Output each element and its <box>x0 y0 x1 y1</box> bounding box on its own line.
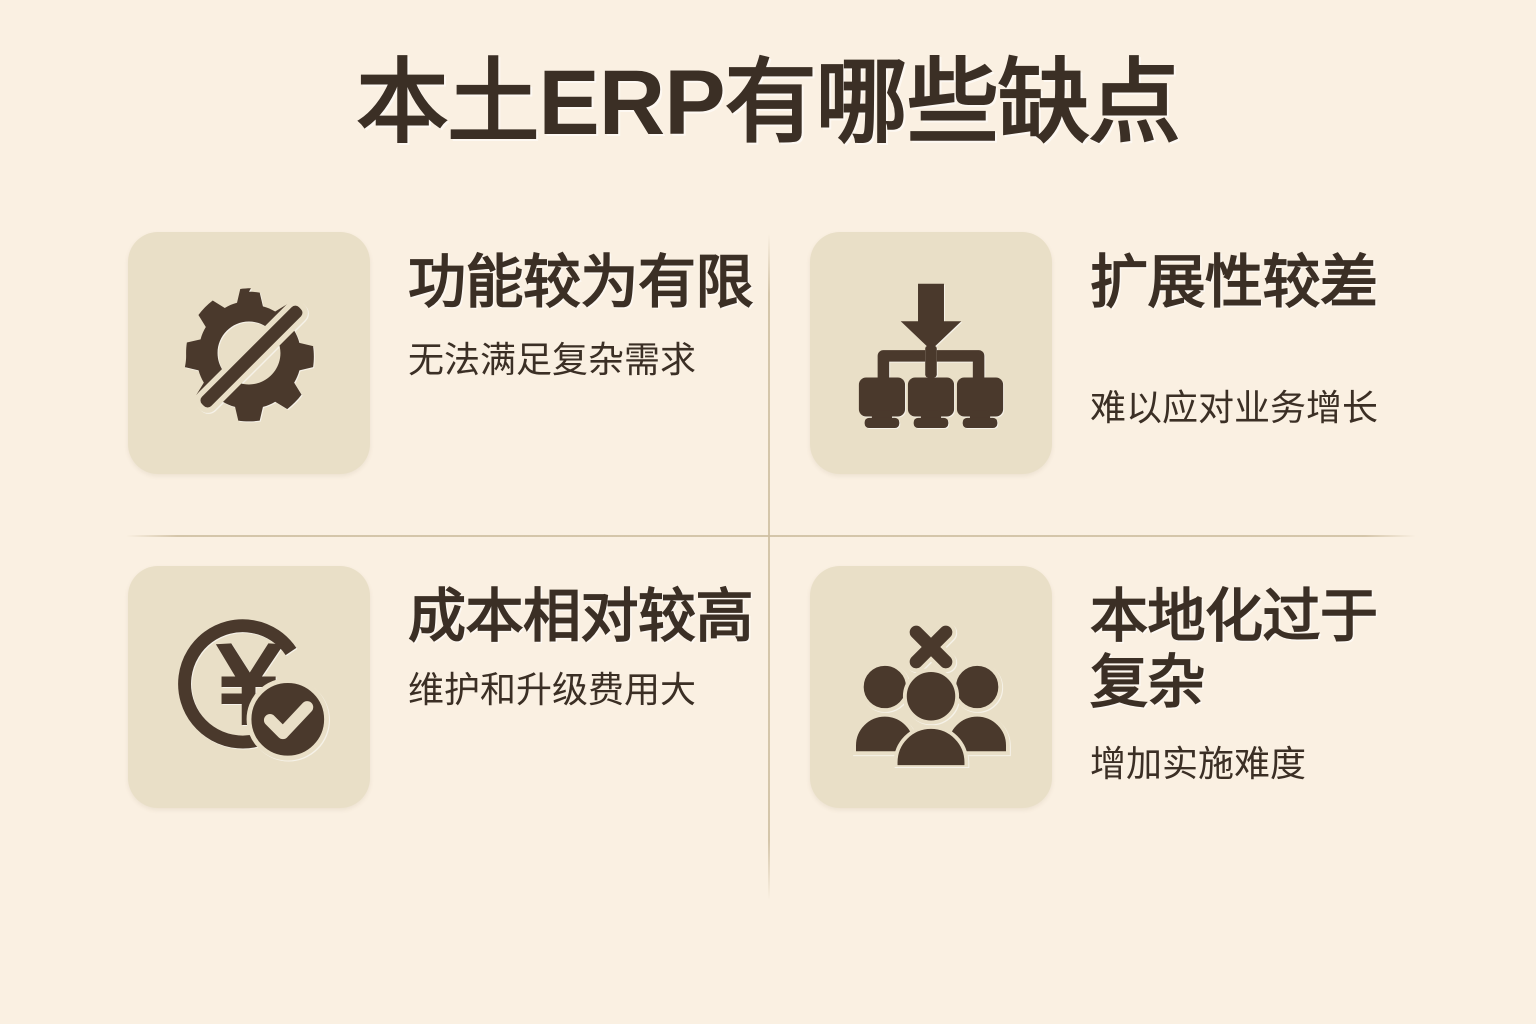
feature-text-functionality: 功能较为有限 无法满足复杂需求 <box>408 232 753 381</box>
feature-grid: 功能较为有限 无法满足复杂需求 <box>120 228 1420 900</box>
feature-subtitle: 无法满足复杂需求 <box>408 338 753 381</box>
feature-text-localization: 本地化过于复杂 增加实施难度 <box>1090 566 1420 785</box>
icon-tile-localization <box>810 566 1052 808</box>
feature-title: 成本相对较高 <box>408 584 753 650</box>
icon-tile-scalability <box>810 232 1052 474</box>
feature-text-scalability: 扩展性较差 难以应对业务增长 <box>1090 232 1378 429</box>
feature-text-cost: 成本相对较高 维护和升级费用大 <box>408 566 753 711</box>
icon-tile-functionality <box>128 232 370 474</box>
feature-card-cost: 成本相对较高 维护和升级费用大 <box>128 566 753 808</box>
feature-subtitle: 难以应对业务增长 <box>1090 386 1378 429</box>
feature-card-scalability: 扩展性较差 难以应对业务增长 <box>810 232 1378 474</box>
feature-card-functionality: 功能较为有限 无法满足复杂需求 <box>128 232 753 474</box>
feature-card-localization: 本地化过于复杂 增加实施难度 <box>810 566 1420 808</box>
network-hierarchy-down-arrow-icon <box>851 278 1011 428</box>
icon-tile-cost <box>128 566 370 808</box>
people-group-x-icon <box>846 607 1016 767</box>
feature-title: 本地化过于复杂 <box>1090 584 1420 716</box>
feature-subtitle: 维护和升级费用大 <box>408 668 753 711</box>
gear-disabled-icon <box>164 268 334 438</box>
feature-title: 扩展性较差 <box>1090 250 1378 316</box>
feature-subtitle: 增加实施难度 <box>1090 742 1420 785</box>
vertical-divider <box>768 234 770 900</box>
page-title: 本土ERP有哪些缺点 <box>0 52 1536 155</box>
yen-cost-check-icon <box>165 603 333 771</box>
horizontal-divider <box>126 535 1416 537</box>
feature-title: 功能较为有限 <box>408 250 753 316</box>
